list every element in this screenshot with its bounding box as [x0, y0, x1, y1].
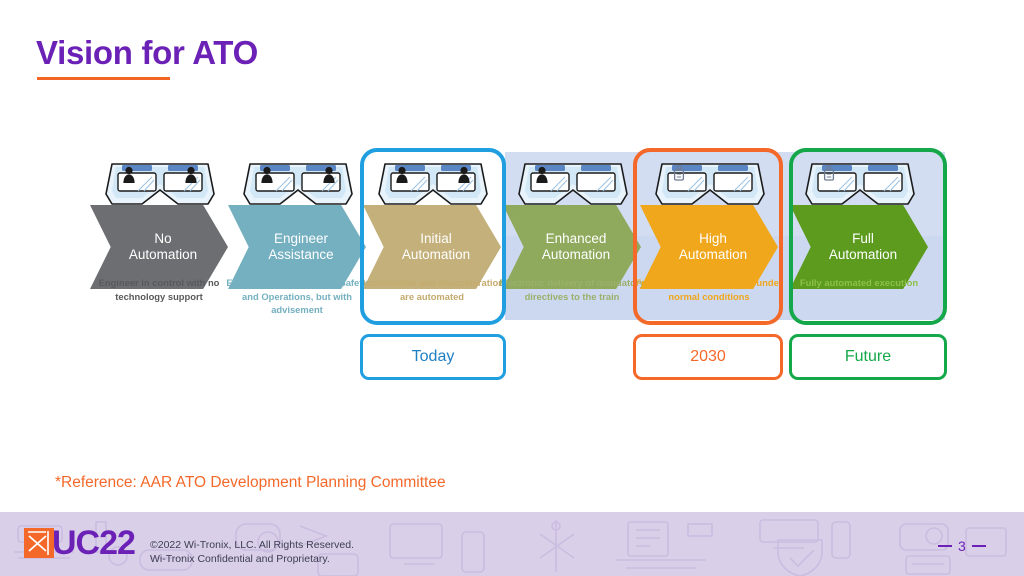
locomotive-cab-icon: [377, 158, 489, 210]
stage-1: No Automation Engineer in control with n…: [90, 150, 228, 325]
stage-label: No Automation: [117, 231, 201, 264]
uc22-logo-text: UC22: [52, 524, 135, 563]
stage-label: Engineer Assistance: [256, 231, 337, 264]
stage-label-line-1: Initial: [402, 231, 470, 247]
stage-3: Initial Automation Acceleration and deac…: [363, 150, 501, 325]
stage-label-line-1: Enhanced: [542, 231, 610, 247]
stage-caption: Engineer responsible for Safety and Oper…: [222, 276, 372, 317]
reference-footnote: *Reference: AAR ATO Development Planning…: [55, 474, 446, 492]
stage-caption: Electronic delivery of mandatory directi…: [497, 276, 647, 303]
stage-label-line-2: Assistance: [268, 247, 333, 263]
copyright-line-2: Wi-Tronix Confidential and Proprietary.: [150, 552, 354, 566]
stage-label-line-1: Engineer: [268, 231, 333, 247]
locomotive-cab-icon: [654, 158, 766, 210]
stage-label: Full Automation: [817, 231, 901, 264]
timeline-box-label: Future: [845, 348, 891, 366]
page-number-value: 3: [958, 538, 966, 554]
timeline-box-today[interactable]: Today: [360, 334, 506, 380]
stage-caption: Acceleration and deacceleration are auto…: [357, 276, 507, 303]
stage-label-line-1: Full: [829, 231, 897, 247]
timeline-box-future[interactable]: Future: [789, 334, 947, 380]
wi-tronix-x-icon: [24, 528, 54, 558]
stage-label-line-2: Automation: [542, 247, 610, 263]
copyright-notice: ©2022 Wi-Tronix, LLC. All Rights Reserve…: [150, 538, 354, 566]
locomotive-cab-icon: [104, 158, 216, 210]
stage-label-line-2: Automation: [679, 247, 747, 263]
page-number-dash-left: [938, 545, 952, 547]
stage-label-line-2: Automation: [829, 247, 897, 263]
stage-label-line-1: High: [679, 231, 747, 247]
locomotive-cab-icon: [804, 158, 916, 210]
stage-4: Enhanced Automation Electronic delivery …: [503, 150, 641, 325]
stage-6: Full Automation Fully automated executio…: [790, 150, 928, 325]
stage-caption: Fully automated execution under normal c…: [634, 276, 784, 303]
stage-caption: Engineer in control with no technology s…: [84, 276, 234, 303]
locomotive-cab-icon: [517, 158, 629, 210]
timeline-box-label: 2030: [690, 348, 726, 366]
copyright-line-1: ©2022 Wi-Tronix, LLC. All Rights Reserve…: [150, 538, 354, 552]
stage-label-line-1: No: [129, 231, 197, 247]
stage-label-line-2: Automation: [129, 247, 197, 263]
timeline-box-2030[interactable]: 2030: [633, 334, 783, 380]
timeline-box-label: Today: [412, 348, 455, 366]
page-number-dash-right: [972, 545, 986, 547]
stage-label: Enhanced Automation: [530, 231, 614, 264]
stage-5: High Automation Fully automated executio…: [640, 150, 778, 325]
stage-label-line-2: Automation: [402, 247, 470, 263]
locomotive-cab-icon: [242, 158, 354, 210]
stage-2: Engineer Assistance Engineer responsible…: [228, 150, 366, 325]
stage-caption: Fully automated execution: [784, 276, 934, 290]
stage-label: Initial Automation: [390, 231, 474, 264]
stage-label: High Automation: [667, 231, 751, 264]
page-number: 3: [938, 538, 986, 554]
